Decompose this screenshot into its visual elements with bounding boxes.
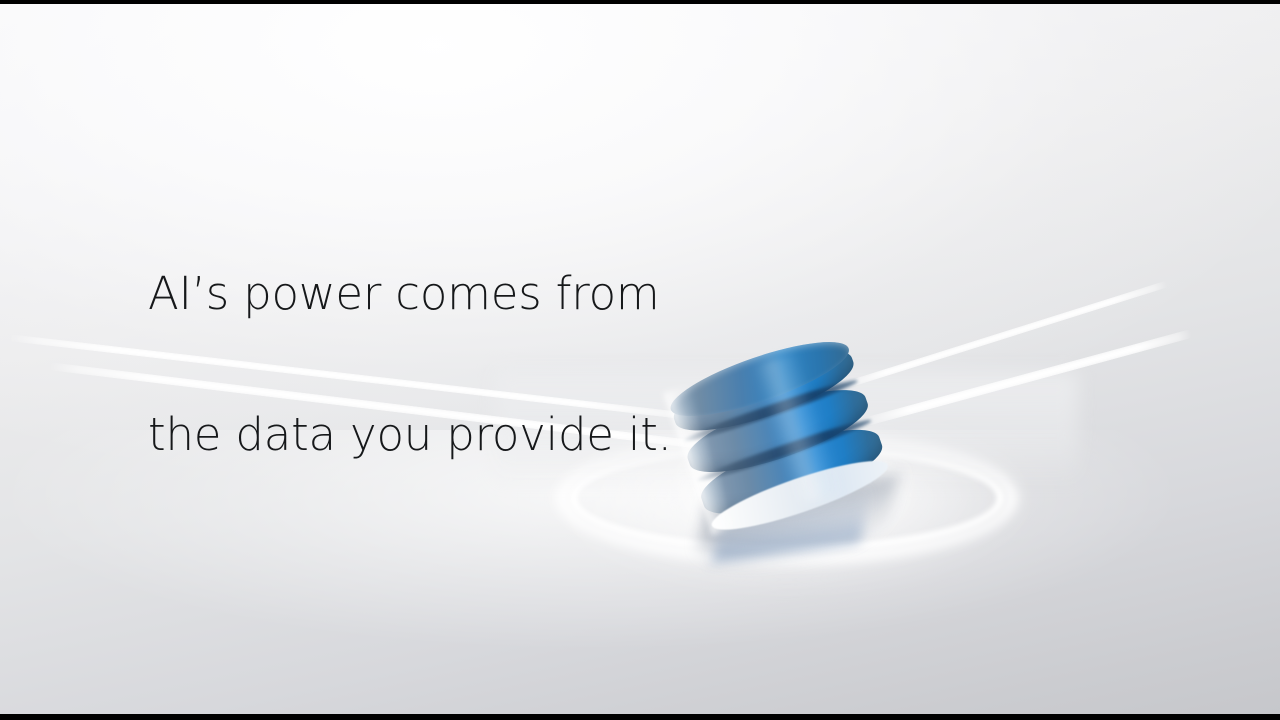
letterbox-bar-top [0, 0, 1280, 4]
headline-line-2: the data you provide it. [148, 411, 672, 458]
letterbox-bar-bottom [0, 714, 1280, 720]
headline-line-1: AI’s power comes from [148, 270, 672, 317]
video-frame: AI’s power comes from the data you provi… [0, 0, 1280, 720]
page-title: AI’s power comes from the data you provi… [148, 176, 672, 552]
